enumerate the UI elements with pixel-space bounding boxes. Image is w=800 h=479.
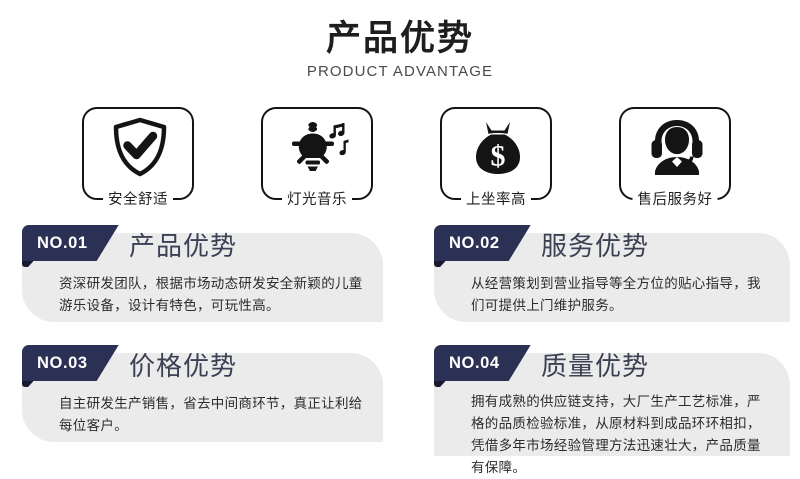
advantage-title-2: 服务优势 bbox=[541, 229, 649, 263]
advantage-badge-label: NO.01 bbox=[37, 233, 88, 253]
advantage-card-2[interactable]: NO.02 服务优势 从经营策划到营业指导等全方位的贴心指导，我们可提供上门维护… bbox=[434, 233, 790, 322]
advantage-body-2: 从经营策划到营业指导等全方位的贴心指导，我们可提供上门维护服务。 bbox=[471, 273, 770, 317]
advantage-body-4: 拥有成熟的供应链支持，大厂生产工艺标准，严格的品质检验标准，从原材料到成品环环相… bbox=[471, 391, 770, 479]
advantage-title-1: 产品优势 bbox=[129, 229, 237, 263]
advantage-badge-3: NO.03 bbox=[22, 345, 119, 381]
advantage-card-1[interactable]: NO.01 产品优势 资深研发团队，根据市场动态研发安全新颖的儿童游乐设备，设计… bbox=[22, 233, 383, 322]
advantage-card-grid: NO.01 产品优势 资深研发团队，根据市场动态研发安全新颖的儿童游乐设备，设计… bbox=[0, 0, 800, 456]
advantage-body-3: 自主研发生产销售，省去中间商环节，真正让利给每位客户。 bbox=[59, 393, 363, 437]
advantage-card-3[interactable]: NO.03 价格优势 自主研发生产销售，省去中间商环节，真正让利给每位客户。 bbox=[22, 353, 383, 442]
advantage-body-1: 资深研发团队，根据市场动态研发安全新颖的儿童游乐设备，设计有特色，可玩性高。 bbox=[59, 273, 363, 317]
advantage-badge-1: NO.01 bbox=[22, 225, 119, 261]
advantage-badge-label: NO.04 bbox=[449, 353, 500, 373]
advantage-badge-label: NO.02 bbox=[449, 233, 500, 253]
advantage-badge-label: NO.03 bbox=[37, 353, 88, 373]
advantage-badge-4: NO.04 bbox=[434, 345, 531, 381]
advantage-title-3: 价格优势 bbox=[129, 349, 237, 383]
advantage-title-4: 质量优势 bbox=[541, 349, 649, 383]
advantage-badge-2: NO.02 bbox=[434, 225, 531, 261]
advantage-card-4[interactable]: NO.04 质量优势 拥有成熟的供应链支持，大厂生产工艺标准，严格的品质检验标准… bbox=[434, 353, 790, 456]
